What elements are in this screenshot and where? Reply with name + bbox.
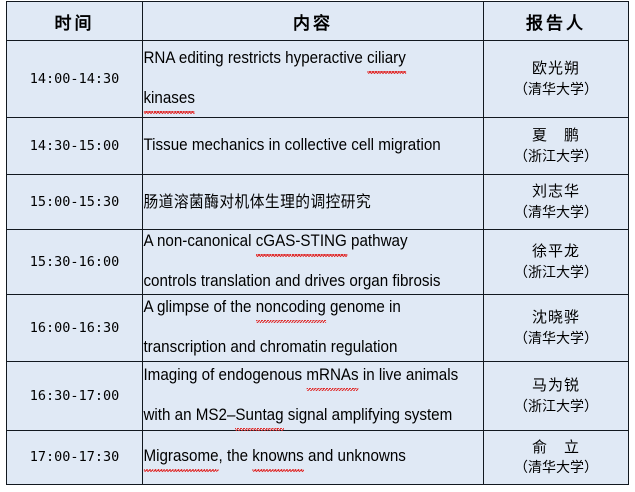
content-line: 肠道溶菌酶对机体生理的调控研究 <box>143 190 456 213</box>
cell-time: 14:30-15:00 <box>7 118 143 175</box>
header-row: 时间 内容 报告人 <box>7 2 629 41</box>
cell-speaker: 徐平龙 （浙江大学） <box>484 230 629 295</box>
cell-speaker: 马为锐 （浙江大学） <box>484 361 629 430</box>
content-line: Imaging of endogenous mRNAs in live anim… <box>143 364 456 388</box>
misspelled-word: knowns <box>252 445 303 469</box>
misspelled-word: cGAS-STING <box>255 230 346 254</box>
speaker-name: 沈晓骅 <box>484 306 628 329</box>
cell-content: 肠道溶菌酶对机体生理的调控研究 <box>143 175 457 230</box>
speaker-affiliation: （清华大学） <box>484 203 628 224</box>
table-row: 17:00-17:30 Migrasome, the knowns and un… <box>7 430 629 484</box>
table-row: 14:00-14:30 RNA editing restricts hypera… <box>7 41 629 118</box>
content-line: Tissue mechanics in collective cell migr… <box>143 134 456 158</box>
speaker-name: 欧光朔 <box>484 57 628 80</box>
speaker-affiliation: （清华大学） <box>484 80 628 101</box>
misspelled-word: noncoding <box>255 296 325 320</box>
speaker-affiliation: （浙江大学） <box>484 397 628 418</box>
cell-time: 17:00-17:30 <box>7 430 143 484</box>
content-line: kinases <box>143 87 456 111</box>
content-line: controls translation and drives organ fi… <box>143 270 456 294</box>
table-row: 15:30-16:00 A non-canonical cGAS-STING p… <box>7 230 629 295</box>
cell-time: 15:30-16:00 <box>7 230 143 295</box>
cell-speaker: 沈晓骅 （清华大学） <box>484 294 629 361</box>
content-line: A non-canonical cGAS-STING pathway <box>143 230 456 254</box>
column-header-content: 内容 <box>143 2 484 41</box>
speaker-affiliation: （清华大学） <box>484 458 628 479</box>
column-header-time: 时间 <box>7 2 143 41</box>
cell-content: RNA editing restricts hyperactive ciliar… <box>143 41 457 118</box>
cell-content: Migrasome, the knowns and unknowns <box>143 430 457 484</box>
schedule-table-container: 时间 内容 报告人 14:00-14:30 RNA editing restri… <box>6 1 628 485</box>
speaker-name: 刘志华 <box>484 180 628 203</box>
speaker-name: 俞 立 <box>484 436 628 459</box>
conference-schedule-table: 时间 内容 报告人 14:00-14:30 RNA editing restri… <box>6 1 629 485</box>
misspelled-word: Migrasome <box>143 445 218 469</box>
content-line: with an MS2–Suntag signal amplifying sys… <box>143 404 456 428</box>
table-header: 时间 内容 报告人 <box>7 2 629 41</box>
table-row: 15:00-15:30 肠道溶菌酶对机体生理的调控研究 刘志华 （清华大学） <box>7 175 629 230</box>
cell-content: A glimpse of the noncoding genome in tra… <box>143 294 457 361</box>
speaker-name: 夏 鹏 <box>484 124 628 147</box>
misspelled-word: kinases <box>143 87 194 111</box>
table-row: 16:30-17:00 Imaging of endogenous mRNAs … <box>7 361 629 430</box>
misspelled-word: ciliary <box>367 47 406 71</box>
table-row: 14:30-15:00 Tissue mechanics in collecti… <box>7 118 629 175</box>
content-line: A glimpse of the noncoding genome in <box>143 296 456 320</box>
table-row: 16:00-16:30 A glimpse of the noncoding g… <box>7 294 629 361</box>
speaker-affiliation: （浙江大学） <box>484 263 628 284</box>
speaker-name: 马为锐 <box>484 374 628 397</box>
column-header-speaker: 报告人 <box>484 2 629 41</box>
cell-time: 15:00-15:30 <box>7 175 143 230</box>
misspelled-word: mRNAs <box>306 364 358 388</box>
cell-speaker: 俞 立 （清华大学） <box>484 430 629 484</box>
table-body: 14:00-14:30 RNA editing restricts hypera… <box>7 41 629 485</box>
cell-time: 14:00-14:30 <box>7 41 143 118</box>
speaker-affiliation: （清华大学） <box>484 329 628 350</box>
cell-speaker: 夏 鹏 （浙江大学） <box>484 118 629 175</box>
cell-speaker: 欧光朔 （清华大学） <box>484 41 629 118</box>
cell-time: 16:30-17:00 <box>7 361 143 430</box>
cell-speaker: 刘志华 （清华大学） <box>484 175 629 230</box>
speaker-affiliation: （浙江大学） <box>484 147 628 168</box>
content-line: transcription and chromatin regulation <box>143 336 456 360</box>
content-line: Migrasome, the knowns and unknowns <box>143 445 456 469</box>
cell-content: A non-canonical cGAS-STING pathway contr… <box>143 230 457 295</box>
speaker-name: 徐平龙 <box>484 240 628 263</box>
content-line: RNA editing restricts hyperactive ciliar… <box>143 47 456 71</box>
cell-content: Imaging of endogenous mRNAs in live anim… <box>143 361 457 430</box>
cell-content: Tissue mechanics in collective cell migr… <box>143 118 457 175</box>
misspelled-word: Suntag <box>235 404 283 428</box>
cell-time: 16:00-16:30 <box>7 294 143 361</box>
